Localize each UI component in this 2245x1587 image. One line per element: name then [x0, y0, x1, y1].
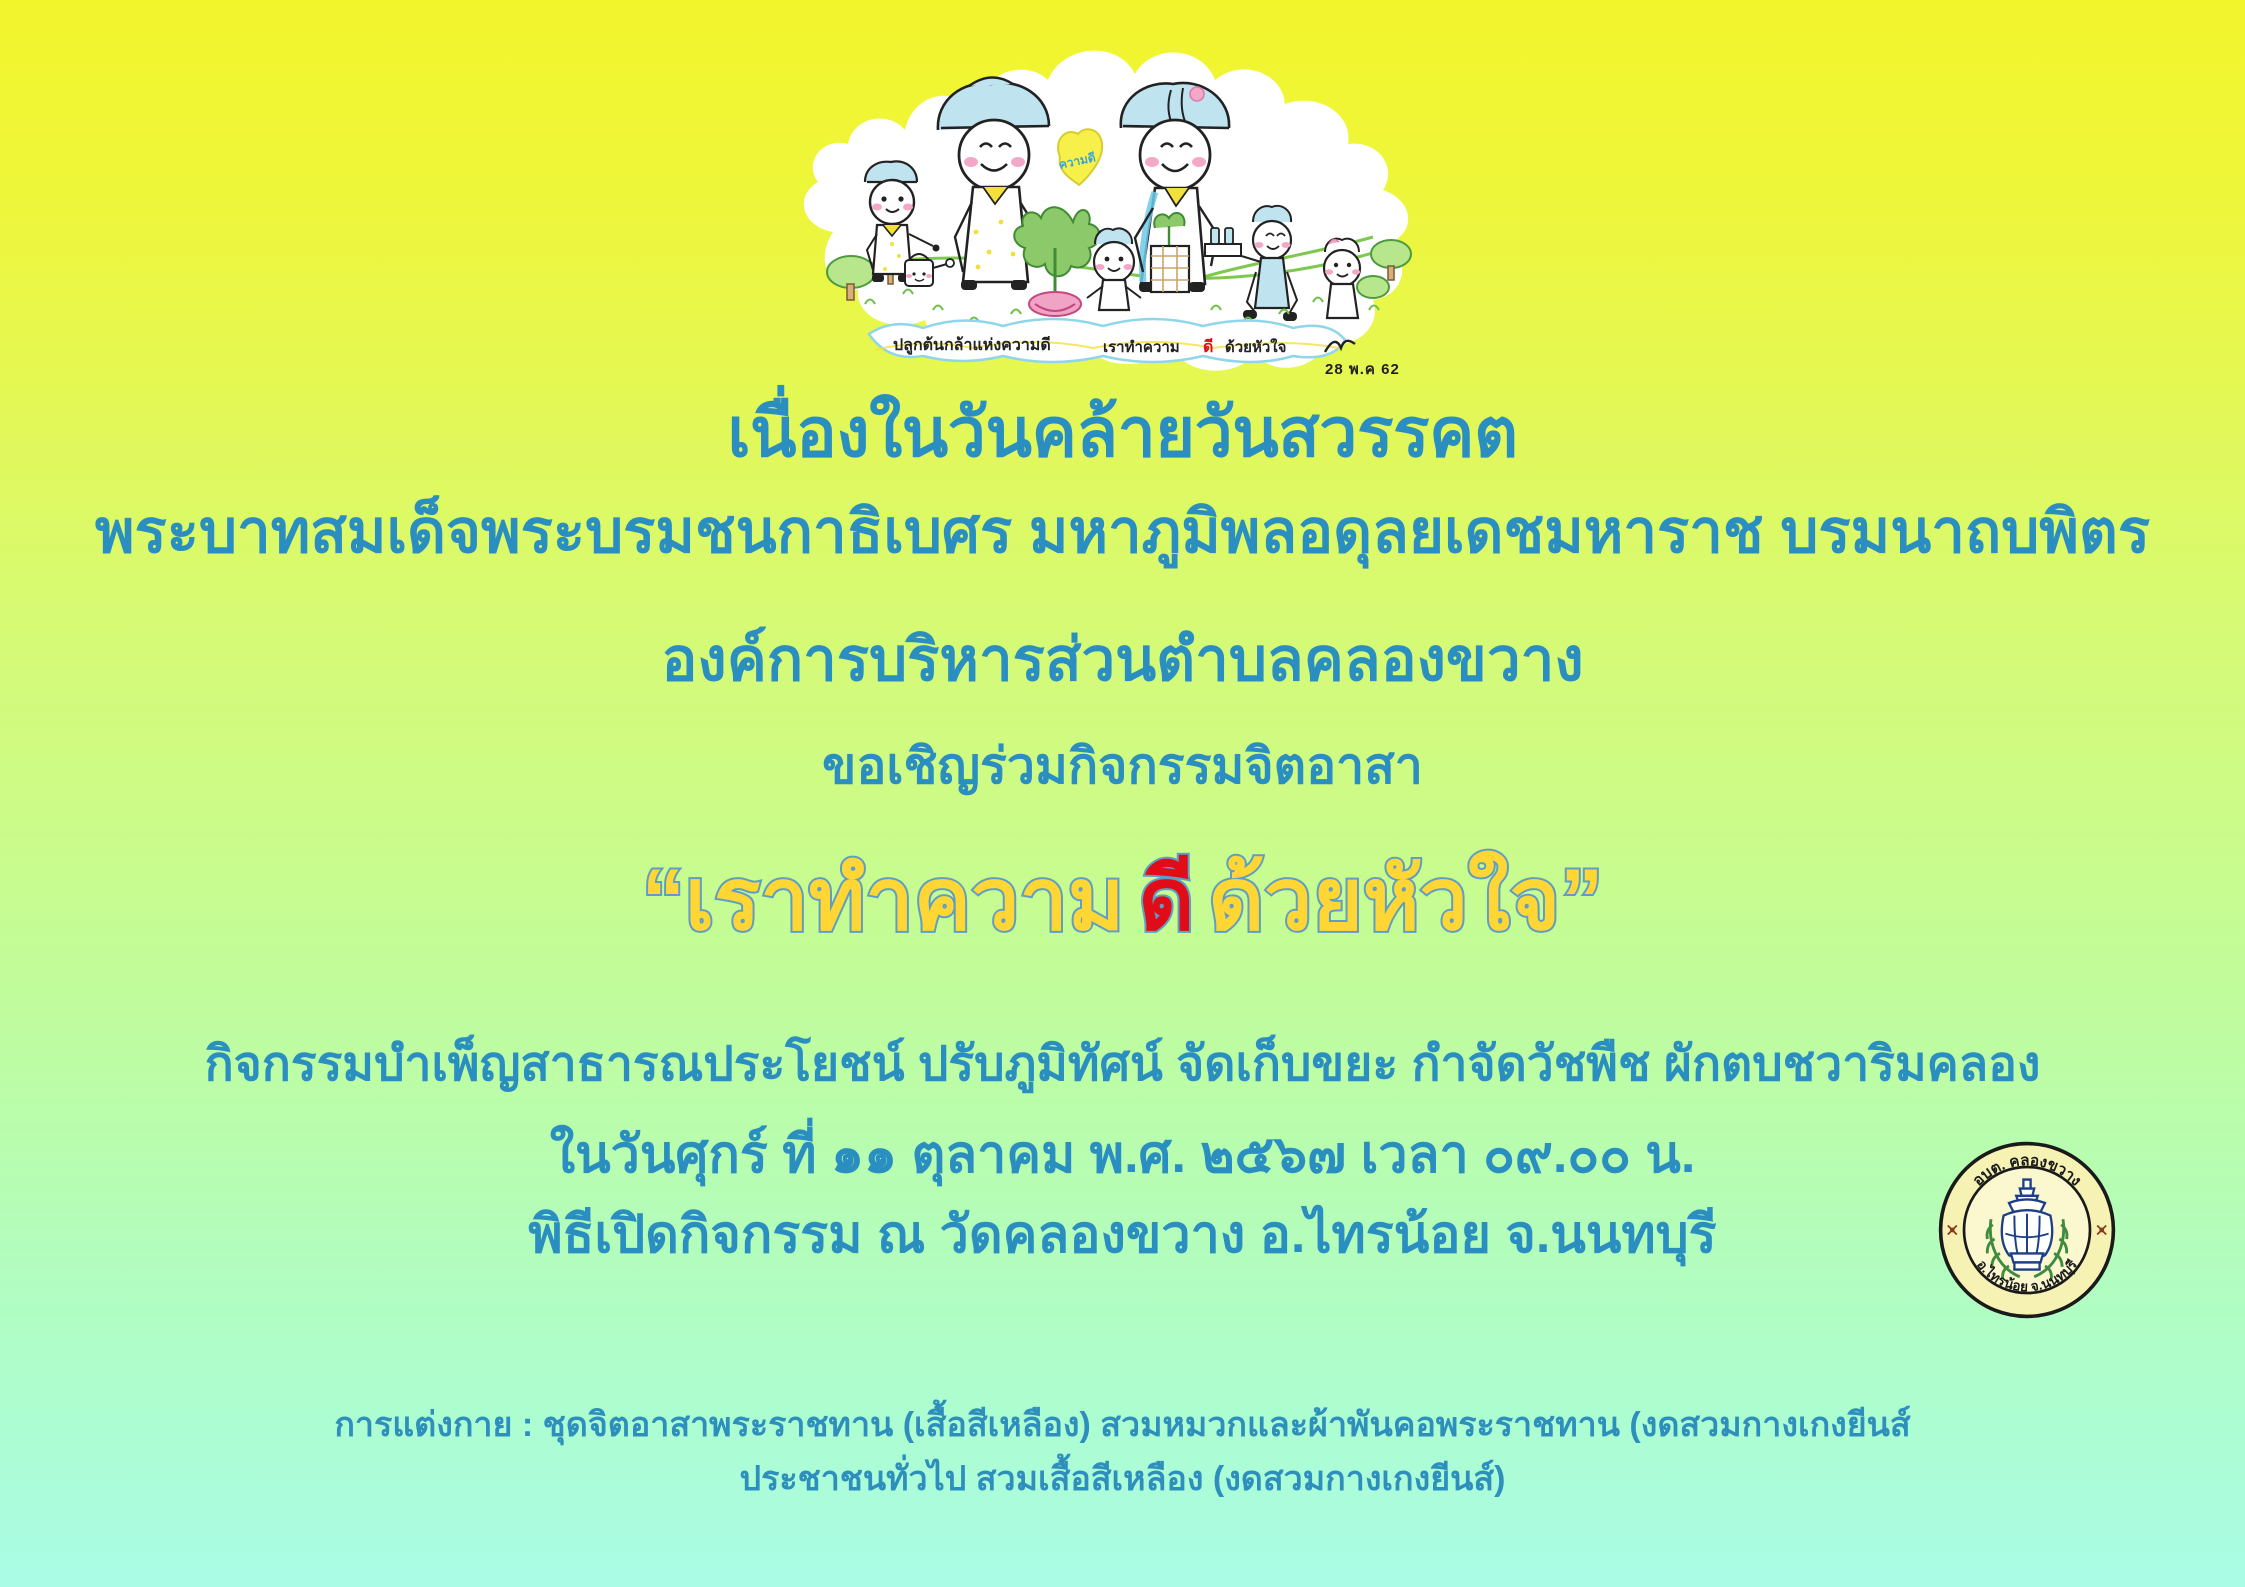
- slogan-part-1: เราทำความ: [685, 852, 1125, 948]
- illustration-caption-quote-pre: เราทำความ: [1103, 339, 1180, 356]
- poster-root: ความดี: [0, 0, 2245, 1587]
- slogan-part-2: ด้วยหัวใจ: [1208, 852, 1560, 948]
- official-seal-abt-khlong-khwang: อบต. คลองขวาง อ.ไทรน้อย จ.นนทบุรี: [1937, 1140, 2117, 1320]
- dress-code-line-1: การแต่งกาย : ชุดจิตอาสาพระราชทาน (เสื้อส…: [0, 1398, 2245, 1452]
- illustration-caption-quote-post: ด้วยหัวใจ: [1225, 338, 1286, 356]
- slogan-highlight-good: ดี: [1138, 852, 1194, 948]
- headline-organization: องค์การบริหารส่วนตำบลคลองขวาง: [0, 628, 2245, 691]
- headline-royal-title: พระบาทสมเด็จพระบรมชนกาธิเบศร มหาภูมิพลอด…: [0, 500, 2245, 563]
- activity-description: กิจกรรมบำเพ็ญสาธารณประโยชน์ ปรับภูมิทัศน…: [0, 1040, 2245, 1090]
- slogan-open-quote: “: [642, 852, 685, 948]
- seedling-pot: [1151, 213, 1189, 292]
- illustration-caption-quote-good: ดี: [1203, 337, 1213, 356]
- signature-date: 28 พ.ค 62: [1325, 361, 1400, 378]
- dress-code-line-2: ประชาชนทั่วไป สวมเสื้อสีเหลือง (งดสวมกาง…: [0, 1452, 2245, 1506]
- child-far-right-figure: [1324, 239, 1360, 318]
- illustration-caption-plain: ปลูกต้นกล้าแห่งความดี: [893, 335, 1051, 356]
- slogan-close-quote: ”: [1560, 852, 1603, 948]
- slogan-block: “เราทำความดีด้วยหัวใจ”: [0, 855, 2245, 945]
- event-venue: พิธีเปิดกิจกรรม ณ วัดคลองขวาง อ.ไทรน้อย …: [0, 1208, 2245, 1263]
- dress-code-block: การแต่งกาย : ชุดจิตอาสาพระราชทาน (เสื้อส…: [0, 1398, 2245, 1507]
- volunteer-planting-illustration: ความดี: [773, 22, 1473, 397]
- headline-occasion: เนื่องในวันคล้ายวันสวรรคต: [0, 398, 2245, 469]
- event-date-time: ในวันศุกร์ ที่ ๑๑ ตุลาคม พ.ศ. ๒๕๖๗ เวลา …: [0, 1128, 2245, 1183]
- headline-invitation: ขอเชิญร่วมกิจกรรมจิตอาสา: [0, 740, 2245, 793]
